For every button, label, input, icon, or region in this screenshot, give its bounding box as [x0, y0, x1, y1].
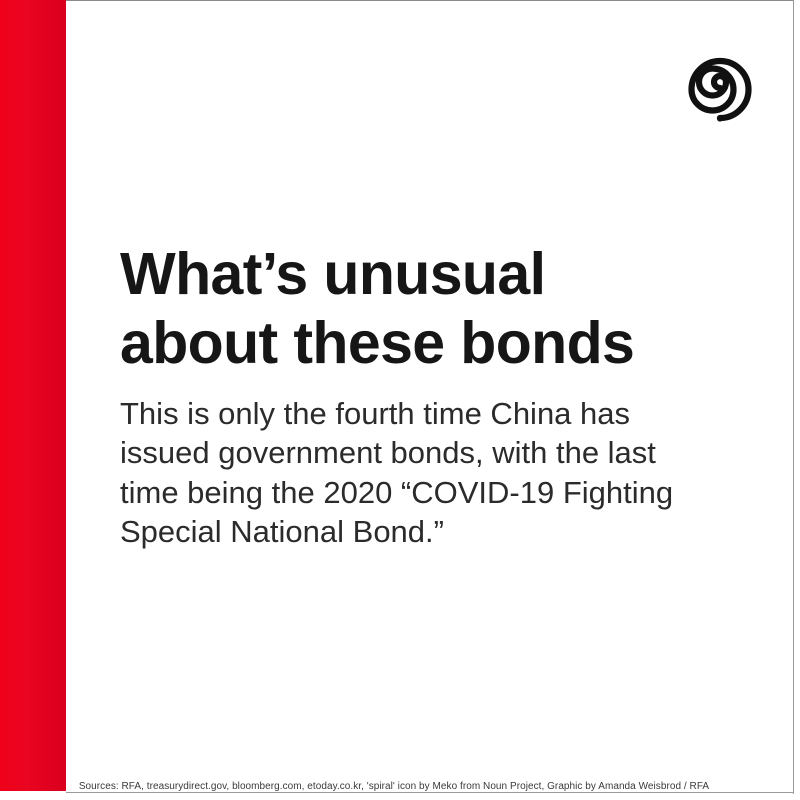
sources-credit: Sources: RFA, treasurydirect.gov, bloomb… [79, 781, 709, 792]
spiral-icon [670, 32, 770, 132]
frame-top-border [66, 0, 794, 1]
page-title: What’s unusual about these bonds [120, 240, 720, 378]
footer: Sources: RFA, treasurydirect.gov, bloomb… [0, 776, 794, 794]
text-block: What’s unusual about these bonds This is… [120, 240, 720, 551]
accent-bar-left [0, 0, 66, 791]
subheadline-text: This is only the fourth time China has i… [120, 394, 680, 551]
frame-right-border [793, 0, 794, 794]
infographic-card: What’s unusual about these bonds This is… [0, 0, 800, 800]
